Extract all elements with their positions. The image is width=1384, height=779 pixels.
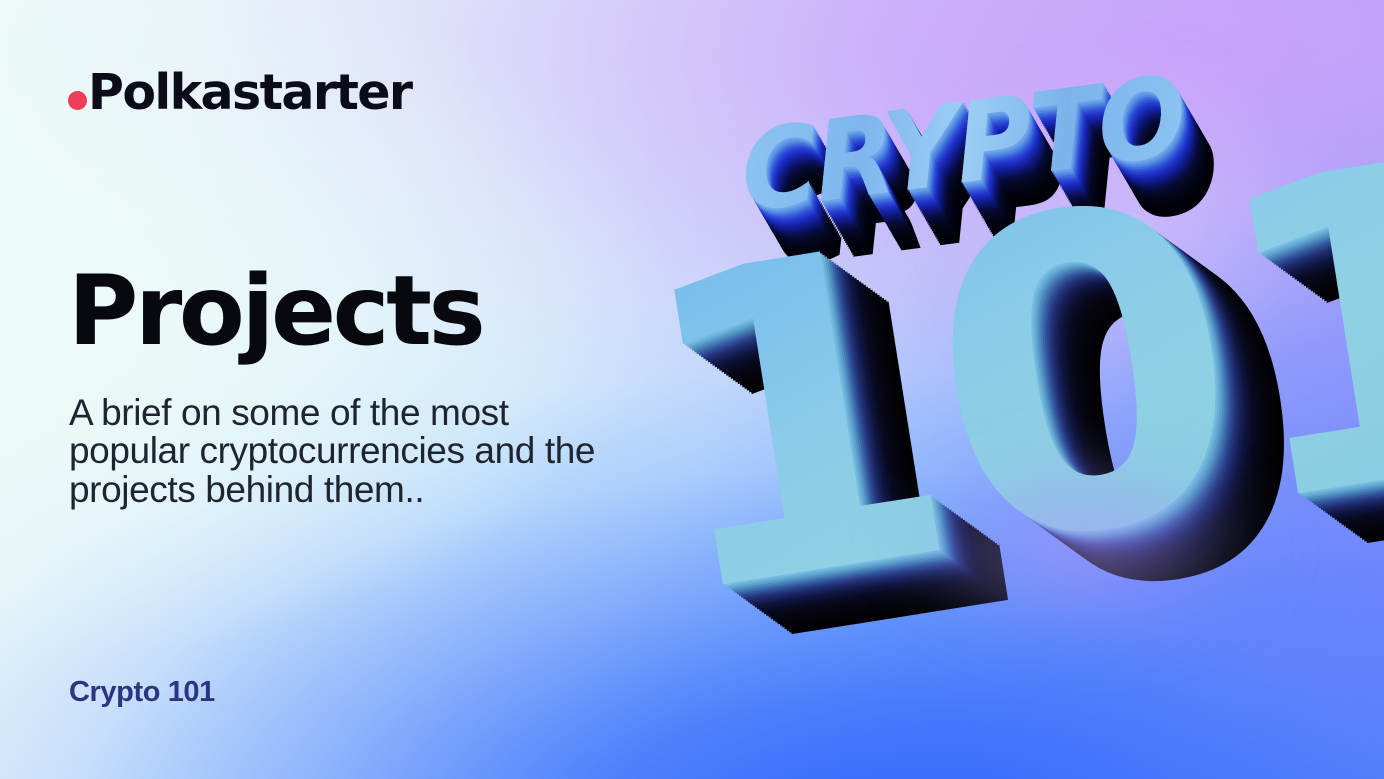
page-title: Projects (68, 263, 482, 359)
crypto-101-3d-artwork: CRYPTO CRYPTO 101 101 (620, 0, 1384, 779)
series-label: Crypto 101 (69, 676, 215, 709)
page-subtitle: A brief on some of the most popular cryp… (69, 394, 609, 509)
content-column: Polkastarter Projects A brief on some of… (0, 0, 640, 779)
artwork-101-number: 101 (620, 62, 1384, 693)
brand-dot-icon (68, 91, 87, 110)
crypto-101-banner: CRYPTO CRYPTO 101 101 Polkastarter Proje… (0, 0, 1384, 779)
logo-wordmark: Polkastarter (88, 68, 411, 117)
polkastarter-logo[interactable]: Polkastarter (68, 64, 411, 120)
